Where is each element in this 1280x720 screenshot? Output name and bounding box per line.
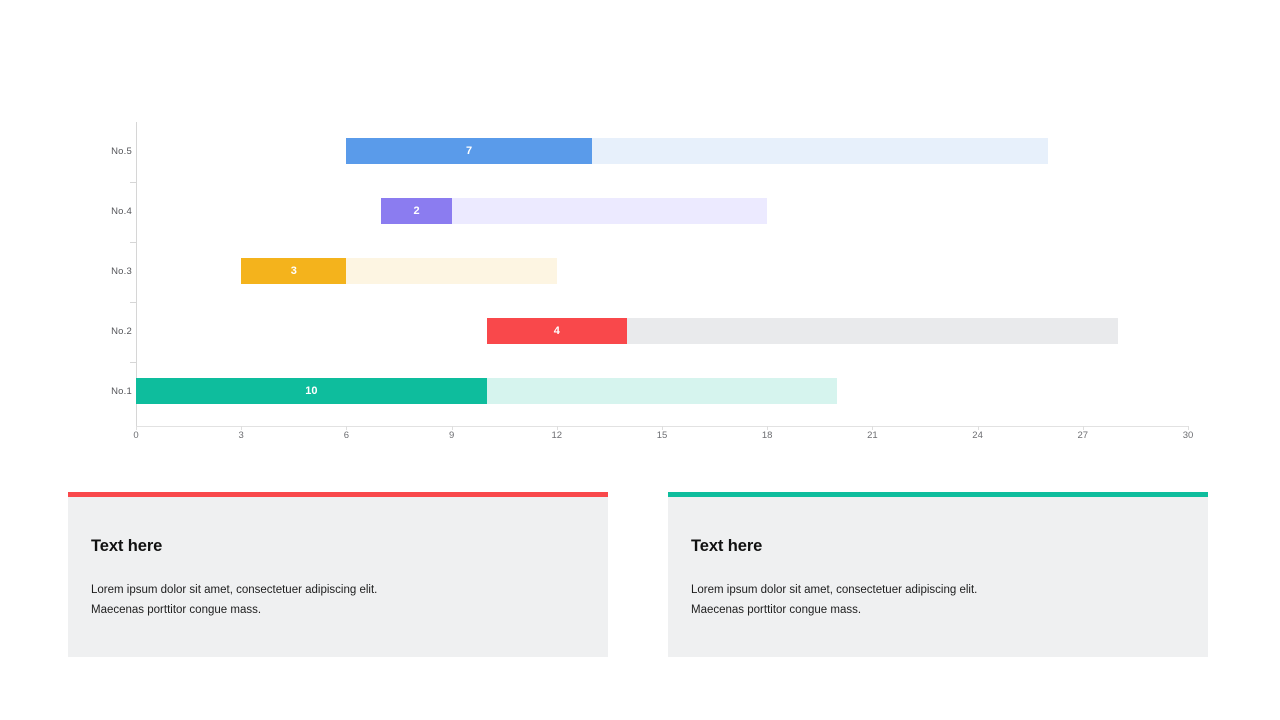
y-axis-label-no3: No.3 [92,266,132,277]
x-axis-label: 24 [958,430,998,441]
info-card-left: Text here Lorem ipsum dolor sit amet, co… [68,492,608,657]
x-axis-label: 3 [221,430,261,441]
y-axis-tick [130,182,136,183]
y-axis-label-no4: No.4 [92,206,132,217]
y-axis-label-no5: No.5 [92,146,132,157]
bar-value-no3[interactable]: 3 [241,258,346,284]
x-axis-label: 27 [1063,430,1103,441]
card-body-line-2: Maecenas porttitor congue mass. [691,600,1171,620]
x-axis-label: 6 [326,430,366,441]
card-accent-bar [668,492,1208,497]
x-axis-label: 30 [1168,430,1208,441]
x-axis-label: 21 [852,430,892,441]
card-body-line-1: Lorem ipsum dolor sit amet, consectetuer… [91,580,571,600]
card-title: Text here [91,537,162,556]
bar-value-no4[interactable]: 2 [381,198,451,224]
x-axis-label: 15 [642,430,682,441]
horizontal-bar-chart: No.5 No.4 No.3 No.2 No.1 104327 03691215… [0,0,1280,470]
y-axis-tick [130,242,136,243]
info-card-right: Text here Lorem ipsum dolor sit amet, co… [668,492,1208,657]
card-body-line-2: Maecenas porttitor congue mass. [91,600,571,620]
y-axis-tick [130,302,136,303]
x-axis-label: 0 [116,430,156,441]
card-body: Lorem ipsum dolor sit amet, consectetuer… [91,580,571,620]
x-axis-label: 18 [747,430,787,441]
card-accent-bar [68,492,608,497]
y-axis-label-no2: No.2 [92,326,132,337]
bar-value-no1[interactable]: 10 [136,378,487,404]
card-body-line-1: Lorem ipsum dolor sit amet, consectetuer… [691,580,1171,600]
card-title: Text here [691,537,762,556]
x-axis-label: 9 [432,430,472,441]
y-axis-tick [130,362,136,363]
card-body: Lorem ipsum dolor sit amet, consectetuer… [691,580,1171,620]
bar-value-no2[interactable]: 4 [487,318,627,344]
y-axis-label-no1: No.1 [92,386,132,397]
x-axis-label: 12 [537,430,577,441]
bar-value-no5[interactable]: 7 [346,138,591,164]
